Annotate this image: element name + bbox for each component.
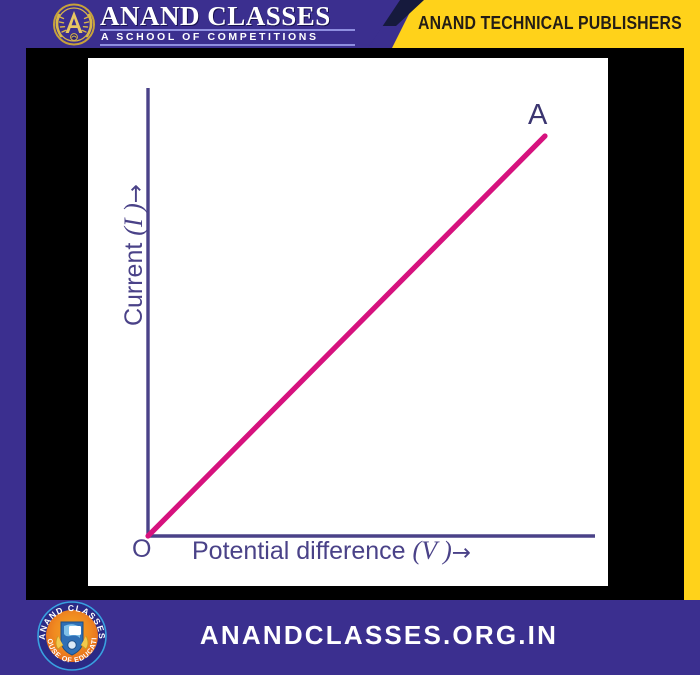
y-axis-arrow-icon: → [123,184,149,203]
x-axis-label-symbol: (V ) [413,536,452,565]
screenshot-root: ANAND CLASSES A SCHOOL OF COMPETITIONS A… [0,0,700,675]
y-axis-label-text: Current [120,243,148,326]
brand-rule-bottom [100,44,355,46]
y-axis-label: Current (I )→ [119,145,149,365]
y-axis-label-symbol: (I ) [119,203,148,235]
header-banner: ANAND CLASSES A SCHOOL OF COMPETITIONS A… [0,0,700,48]
origin-label: O [132,535,151,564]
x-axis-arrow-icon: → [452,540,471,566]
endpoint-label-a: A [528,99,547,132]
anand-classes-wreath-emblem-icon [52,3,96,46]
publisher-banner-title: ANAND TECHNICAL PUBLISHERS [418,13,682,34]
frame-right-yellow-bar [684,44,700,604]
x-axis-label: Potential difference (V )→ [192,536,471,566]
brand-title: ANAND CLASSES [100,1,331,32]
vi-characteristic-graph [88,58,608,586]
brand-subtitle: A SCHOOL OF COMPETITIONS [101,31,319,43]
frame-left-purple-bar [0,44,26,604]
footer-website-url[interactable]: ANANDCLASSES.ORG.IN [0,620,700,651]
x-axis-label-text: Potential difference [192,537,406,565]
chart-panel: Current (I )→ Potential difference (V )→… [88,58,608,586]
data-series-line [148,136,545,536]
